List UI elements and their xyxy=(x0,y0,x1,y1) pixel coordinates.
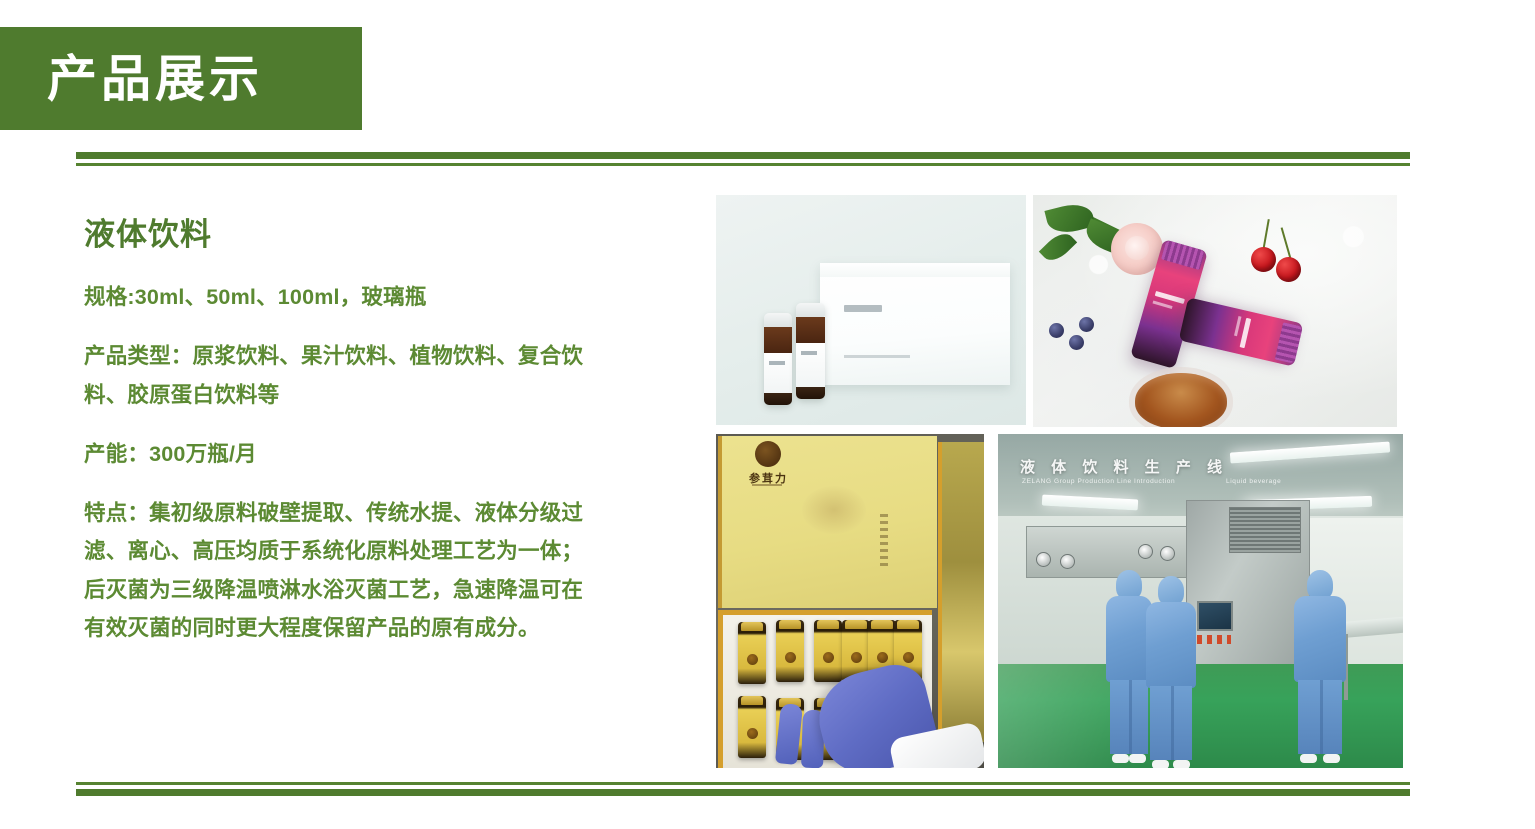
bottle-label xyxy=(796,343,825,387)
carton-logo xyxy=(844,305,882,312)
worker-in-coverall xyxy=(1294,570,1346,762)
divider-rule-thick xyxy=(76,789,1410,796)
worker-shoe xyxy=(1152,760,1169,768)
spec-line-features: 特点：集初级原料破壁提取、传统水提、液体分级过滤、离心、高压均质于系统化原料处理… xyxy=(84,494,584,647)
bottle-liquid xyxy=(764,327,792,353)
brown-bottle-left xyxy=(764,313,792,405)
glass-of-drink xyxy=(1135,373,1227,427)
photo-gift-box-gold-bottles: 参茸力 xyxy=(716,434,984,768)
production-line-overlay-subtitle: ZELANG Group Production Line Introductio… xyxy=(1022,478,1281,485)
secondary-gift-box xyxy=(938,442,984,742)
bottle-liquid xyxy=(796,317,825,343)
spec-line-specification: 规格:30ml、50ml、100ml，玻璃瓶 xyxy=(84,278,584,316)
carton-text xyxy=(844,355,910,358)
worker-torso xyxy=(1294,596,1346,682)
worker-torso xyxy=(1146,602,1196,688)
overlay-subtitle-right: Liquid beverage xyxy=(1226,478,1281,485)
photo-collagen-bottles xyxy=(1033,195,1397,427)
machine-hmi-screen xyxy=(1197,601,1233,631)
bottle-cap xyxy=(764,313,792,327)
production-line-overlay-title: 液 体 饮 料 生 产 线 xyxy=(1020,456,1228,477)
divider-top xyxy=(76,152,1410,166)
gold-bottle xyxy=(738,696,766,758)
worker-legs xyxy=(1150,686,1192,760)
header-banner: 产品展示 xyxy=(0,27,362,130)
cherry-fruit xyxy=(1276,257,1301,282)
pressure-gauge-icon xyxy=(1060,554,1075,569)
worker-in-coverall xyxy=(1146,576,1196,762)
machine-vent xyxy=(1229,507,1301,553)
overlay-subtitle-left: ZELANG Group Production Line Introductio… xyxy=(1022,478,1175,485)
gift-box-brand-underline xyxy=(752,484,782,486)
section-heading: 液体饮料 xyxy=(84,218,584,252)
photo-production-line: 液 体 饮 料 生 产 线 ZELANG Group Production Li… xyxy=(998,434,1403,768)
blueberry-fruit xyxy=(1079,317,1094,332)
gift-box-lid: 参茸力 xyxy=(718,436,937,608)
worker-shoe xyxy=(1323,754,1340,763)
worker-shoe xyxy=(1129,754,1146,763)
product-carton xyxy=(820,263,1010,385)
divider-rule-thin xyxy=(76,163,1410,166)
divider-bottom xyxy=(76,782,1410,796)
worker-shoe xyxy=(1300,754,1317,763)
page-title: 产品展示 xyxy=(47,54,263,104)
bottle-label xyxy=(764,353,792,393)
embossed-emblem xyxy=(802,486,866,534)
blueberry-fruit xyxy=(1069,335,1084,350)
brown-bottle-right xyxy=(796,303,825,399)
brand-emblem-icon xyxy=(755,441,781,467)
pressure-gauge-icon xyxy=(1160,546,1175,561)
cherry-fruit xyxy=(1251,247,1276,272)
photo-product-box-bottles xyxy=(716,195,1026,425)
product-description-column: 液体饮料 规格:30ml、50ml、100ml，玻璃瓶 产品类型：原浆饮料、果汁… xyxy=(84,218,584,647)
bottle-base xyxy=(764,393,792,405)
worker-legs xyxy=(1110,680,1148,754)
bottle-cap xyxy=(796,303,825,317)
spec-line-capacity: 产能：300万瓶/月 xyxy=(84,435,584,473)
worker-shoe xyxy=(1112,754,1129,763)
bottle-base xyxy=(796,387,825,399)
divider-rule-thick xyxy=(76,152,1410,159)
bottle-label-subtext xyxy=(1153,301,1173,309)
gold-bottle xyxy=(776,620,804,682)
gold-bottle xyxy=(814,620,842,682)
bottle-label-subtext xyxy=(1234,316,1241,336)
spec-line-product-type: 产品类型：原浆饮料、果汁饮料、植物饮料、复合饮料、胶原蛋白饮料等 xyxy=(84,337,584,414)
worker-legs xyxy=(1298,680,1342,754)
pressure-gauge-icon xyxy=(1138,544,1153,559)
machine-buttons xyxy=(1197,635,1231,644)
bottle-label-text xyxy=(1240,318,1252,348)
gold-bottle xyxy=(738,622,766,684)
vertical-text-column xyxy=(880,514,888,566)
blueberry-fruit xyxy=(1049,323,1064,338)
pressure-gauge-icon xyxy=(1036,552,1051,567)
worker-shoe xyxy=(1173,760,1190,768)
